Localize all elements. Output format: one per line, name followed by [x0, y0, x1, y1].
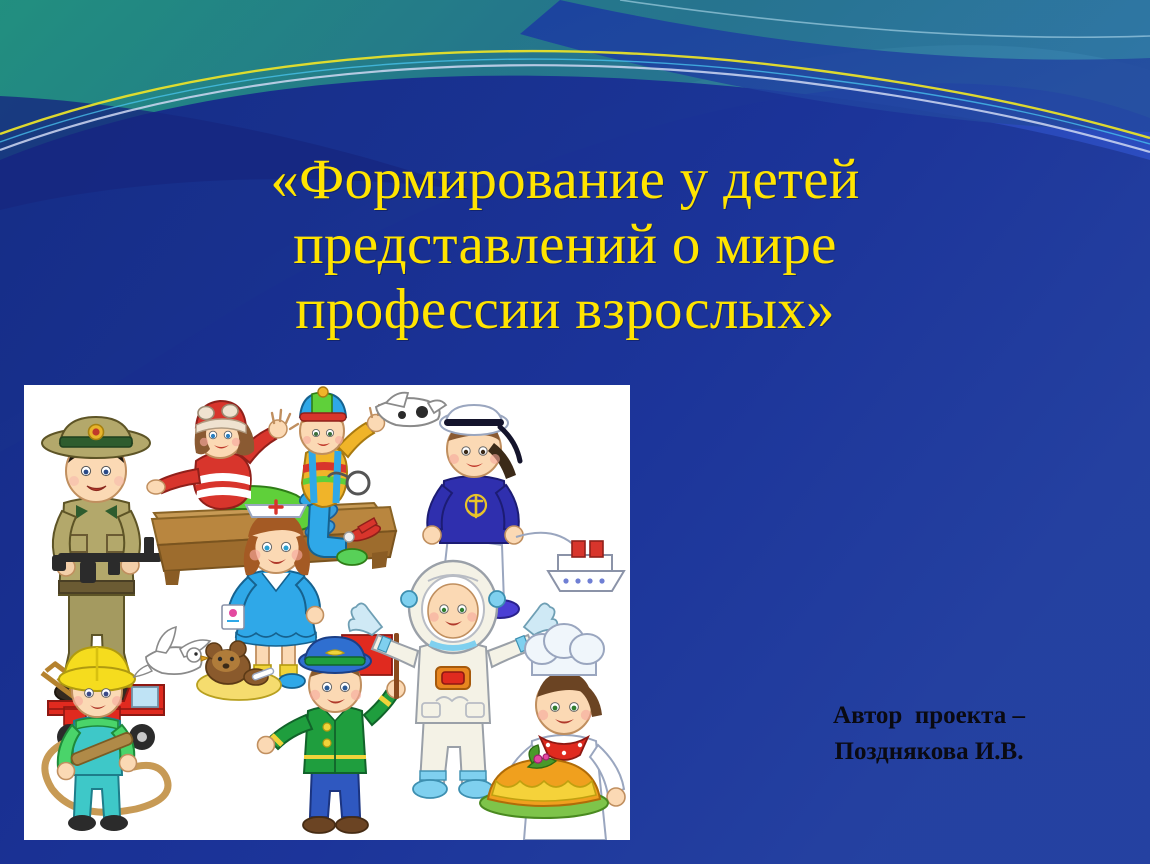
author-line-1: Автор проекта –: [764, 698, 1094, 734]
accent-line-top-right: [620, 0, 1150, 37]
wave-band-navy-upper-right: [520, 0, 1150, 132]
author-line-2: Позднякова И.В.: [764, 734, 1094, 770]
page-title: «Формирование у детей представлений о ми…: [150, 148, 980, 343]
illustration-children-professions: [24, 385, 630, 840]
author-credit: Автор проекта – Позднякова И.В.: [764, 698, 1094, 769]
accent-line-yellow: [0, 51, 1150, 138]
slide-title: «Формирование у детей представлений о ми…: [150, 148, 980, 343]
accent-line-white: [0, 65, 1150, 152]
accent-line-cyan: [0, 59, 1150, 144]
professions-collage-svg: [24, 385, 630, 840]
presentation-slide: «Формирование у детей представлений о ми…: [0, 0, 1150, 864]
